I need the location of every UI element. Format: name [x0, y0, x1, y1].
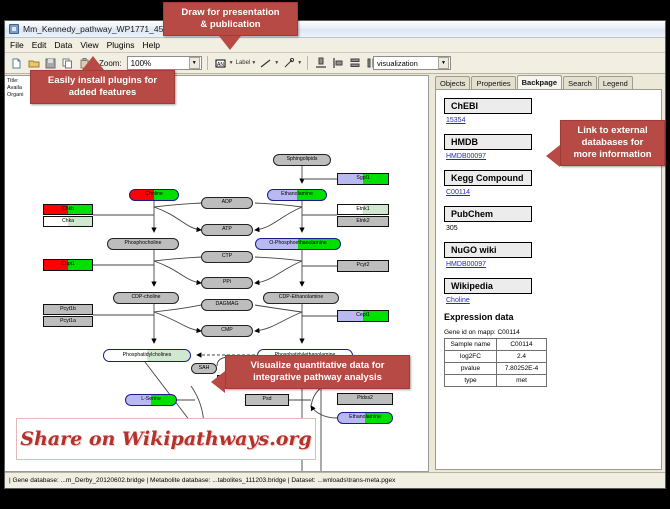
menu-view[interactable]: View	[80, 40, 103, 50]
node-label: Sphingolipids	[287, 157, 318, 162]
node-label: ATP	[222, 227, 232, 232]
node-label: Pcyt2	[357, 263, 370, 268]
gene-node-chkb[interactable]: Chkb	[43, 204, 93, 215]
node-label: Psd	[263, 397, 272, 402]
expr-value: C00114	[497, 339, 547, 351]
node-label: Phosphocholine	[125, 241, 162, 246]
tab-properties[interactable]: Properties	[471, 76, 515, 89]
svg-text:AN: AN	[217, 62, 224, 68]
gene-id-line: Gene id on mapp: C00114	[444, 329, 661, 336]
menu-data[interactable]: Data	[54, 40, 77, 50]
visualize-callout-line2: integrative pathway analysis	[234, 372, 401, 384]
plugins-callout: Easily install plugins for added feature…	[30, 70, 175, 104]
node-label: ADP	[222, 200, 233, 205]
db-value-pubchem: 305	[446, 225, 661, 232]
node-label: CMP	[221, 328, 233, 333]
side-panel-tabs: Objects Properties Backpage Search Legen…	[431, 75, 664, 89]
align-bottom-icon[interactable]	[313, 56, 328, 71]
db-label-kegg: Kegg Compound	[444, 170, 532, 186]
db-link-kegg[interactable]: C00114	[446, 189, 661, 196]
metabolite-node-ppi[interactable]: PPi	[201, 277, 253, 289]
chevron-down-icon[interactable]: ▼	[274, 60, 279, 66]
db-link-nugowiki[interactable]: HMDB00097	[446, 261, 661, 268]
node-label: Ethanolamine	[281, 192, 313, 197]
metabolite-node-cmp[interactable]: CMP	[201, 325, 253, 337]
line-tool[interactable]: ▼	[258, 56, 279, 71]
new-file-icon[interactable]	[9, 56, 24, 71]
visualize-callout-line1: Visualize quantitative data for	[234, 360, 401, 372]
plugins-callout-line2: added features	[39, 87, 166, 99]
shape-tool[interactable]: AN ▼	[213, 56, 234, 71]
node-label: Chkb	[62, 207, 74, 212]
gene-node-ptdss2[interactable]: Ptdss2	[337, 393, 393, 405]
db-label-chebi: ChEBI	[444, 98, 532, 114]
node-label: Chka	[62, 219, 74, 224]
draw-callout-line2: & publication	[172, 19, 289, 31]
open-file-icon[interactable]	[26, 56, 41, 71]
node-label: CDP-choline	[131, 295, 160, 300]
node-label: L-Serine	[141, 397, 161, 402]
db-link-wikipedia[interactable]: Choline	[446, 297, 661, 304]
gene-node-chpt1[interactable]: Chpt1	[43, 259, 93, 271]
metabolite-node-ethanolamine[interactable]: Ethanolamine	[267, 189, 327, 201]
node-label: DAGMAG	[215, 302, 238, 307]
node-label: Etnk1	[356, 207, 369, 212]
tab-backpage[interactable]: Backpage	[517, 75, 562, 89]
metabolite-node-phosphocholine[interactable]: Phosphocholine	[107, 238, 179, 250]
node-label: SAH	[199, 366, 210, 371]
expr-key: log2FC	[445, 351, 497, 363]
chevron-down-icon[interactable]: ▼	[297, 60, 302, 66]
db-label-nugowiki: NuGO wiki	[444, 242, 532, 258]
label-tool-label: Label	[236, 60, 251, 66]
visualize-callout: Visualize quantitative data for integrat…	[225, 355, 410, 389]
db-label-wikipedia: Wikipedia	[444, 278, 532, 294]
toolbar-separator	[307, 56, 308, 70]
pathway-canvas-pane[interactable]: Title: Availa Organi	[5, 75, 429, 472]
metabolite-node-dagmag[interactable]: DAGMAG	[201, 299, 253, 311]
save-file-icon[interactable]	[43, 56, 58, 71]
pathway-diagram[interactable]: SphingolipidsCholineEthanolamineADPATPPh…	[5, 76, 429, 472]
node-label: Etnk2	[356, 219, 369, 224]
window-titlebar: Mm_Kennedy_pathway_WP1771_45176.gpml	[5, 21, 665, 38]
links-callout-arrow-icon	[546, 145, 560, 167]
plugins-callout-line1: Easily install plugins for	[39, 75, 166, 87]
table-row: type met	[445, 375, 547, 387]
expression-table: Sample name C00114 log2FC 2.4 pvalue 7.8…	[444, 338, 547, 387]
share-callout: Share on Wikipathways.org	[16, 418, 316, 460]
label-tool[interactable]: Label ▼	[236, 60, 257, 66]
draw-callout-line1: Draw for presentation	[172, 7, 289, 19]
node-label: Ptdss2	[357, 396, 373, 401]
table-row: Sample name C00114	[445, 339, 547, 351]
visualize-callout-arrow-icon	[211, 371, 225, 393]
status-bar: | Gene database: ...m_Derby_20120602.bri…	[5, 472, 665, 488]
tab-search[interactable]: Search	[563, 76, 597, 89]
node-label: Ethanolamine	[349, 415, 381, 420]
node-label: PPi	[223, 280, 231, 285]
menu-plugins[interactable]: Plugins	[107, 40, 140, 50]
metabolite-node-choline[interactable]: Choline	[129, 189, 179, 201]
anchor-icon[interactable]	[281, 56, 296, 71]
menubar: File Edit Data View Plugins Help	[5, 38, 665, 53]
node-label: Chpt1	[61, 262, 75, 267]
gene-node-psd[interactable]: Psd	[245, 394, 289, 406]
copy-icon[interactable]	[60, 56, 75, 71]
gene-node-chka[interactable]: Chka	[43, 216, 93, 227]
visualization-combobox[interactable]: visualization ▼	[373, 56, 451, 70]
metabolite-node-adp[interactable]: ADP	[201, 197, 253, 209]
draw-callout: Draw for presentation & publication	[163, 2, 298, 36]
metabolite-node-o-phosphoethanolamine[interactable]: O-Phosphoethanolamine	[255, 238, 341, 250]
links-callout-line3: more information	[569, 149, 656, 161]
expr-value: met	[497, 375, 547, 387]
plugins-callout-arrow-icon	[82, 56, 104, 70]
chevron-down-icon[interactable]: ▼	[189, 57, 200, 69]
chevron-down-icon[interactable]: ▼	[251, 60, 256, 66]
chevron-down-icon[interactable]: ▼	[438, 57, 449, 69]
node-label: Cept1	[356, 313, 370, 318]
node-label: Choline	[145, 192, 163, 197]
expression-data-heading: Expression data	[444, 312, 661, 322]
links-callout-line1: Link to external	[569, 125, 656, 137]
links-callout-line2: databases for	[569, 137, 656, 149]
tab-legend[interactable]: Legend	[598, 76, 633, 89]
tab-objects[interactable]: Objects	[435, 76, 470, 89]
node-label: Pcyt1a	[60, 319, 76, 324]
line-icon[interactable]	[258, 56, 273, 71]
visualization-value: visualization	[377, 59, 418, 68]
metabolite-node-atp[interactable]: ATP	[201, 224, 253, 236]
gene-node-cept1[interactable]: Cept1	[337, 310, 389, 322]
metabolite-node-cdp-ethanolamine[interactable]: CDP-Ethanolamine	[263, 292, 339, 304]
node-label: Sgpl1	[356, 176, 369, 181]
node-label: CTP	[222, 254, 232, 259]
draw-callout-arrow-icon	[219, 36, 241, 50]
stack-vertical-icon[interactable]	[347, 56, 362, 71]
expr-key: Sample name	[445, 339, 497, 351]
metabolite-node-cdp-choline[interactable]: CDP-choline	[113, 292, 179, 304]
gene-node-etnk2[interactable]: Etnk2	[337, 216, 389, 227]
expr-key: type	[445, 375, 497, 387]
gene-node-pcyt1a[interactable]: Pcyt1a	[43, 316, 93, 327]
menu-help[interactable]: Help	[143, 40, 165, 50]
zoom-value: 100%	[131, 59, 151, 68]
align-left-icon[interactable]	[330, 56, 345, 71]
toolbar-separator	[207, 56, 208, 70]
table-row: pvalue 7.80252E-4	[445, 363, 547, 375]
menu-edit[interactable]: Edit	[32, 40, 52, 50]
node-label: CDP-Ethanolamine	[279, 295, 323, 300]
anchor-tool[interactable]: ▼	[281, 56, 302, 71]
node-label: Pcyt1b	[60, 307, 76, 312]
metabolite-node-l-serine[interactable]: L-Serine	[125, 394, 177, 406]
node-label: O-Phosphoethanolamine	[269, 241, 326, 246]
table-row: log2FC 2.4	[445, 351, 547, 363]
db-label-hmdb: HMDB	[444, 134, 532, 150]
gene-node-sgpl1[interactable]: Sgpl1	[337, 173, 389, 185]
app-icon	[9, 24, 19, 34]
shape-icon[interactable]: AN	[213, 56, 228, 71]
status-text: | Gene database: ...m_Derby_20120602.bri…	[9, 477, 395, 484]
expr-value: 2.4	[497, 351, 547, 363]
gene-node-pcyt2[interactable]: Pcyt2	[337, 260, 389, 272]
gene-node-pcyt1b[interactable]: Pcyt1b	[43, 304, 93, 315]
expr-key: pvalue	[445, 363, 497, 375]
metabolite-node-phosphatidylcholines[interactable]: Phosphatidylcholines	[103, 349, 191, 362]
links-callout: Link to external databases for more info…	[560, 120, 665, 166]
zoom-combobox[interactable]: 100% ▼	[127, 56, 202, 70]
db-label-pubchem: PubChem	[444, 206, 532, 222]
metabolite-node-sphingolipids[interactable]: Sphingolipids	[273, 154, 331, 166]
chevron-down-icon[interactable]: ▼	[229, 60, 234, 66]
node-label: Phosphatidylcholines	[123, 353, 172, 358]
gene-node-etnk1[interactable]: Etnk1	[337, 204, 389, 215]
metabolite-node-ethanolamine[interactable]: Ethanolamine	[337, 412, 393, 424]
menu-file[interactable]: File	[10, 40, 29, 50]
metabolite-node-ctp[interactable]: CTP	[201, 251, 253, 263]
expr-value: 7.80252E-4	[497, 363, 547, 375]
